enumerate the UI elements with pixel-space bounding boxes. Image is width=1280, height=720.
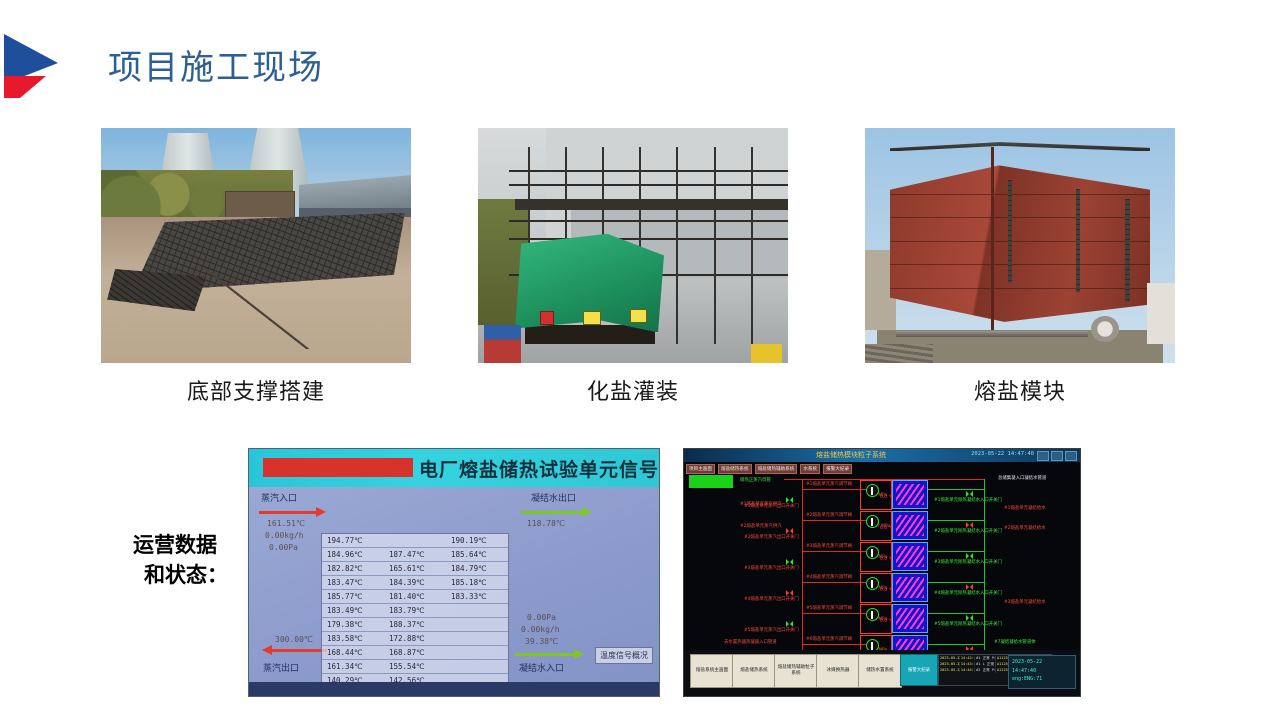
steam-outlet-temp: 300.00℃	[275, 635, 313, 644]
ladder-icon	[1076, 189, 1081, 292]
condensate-inlet-arrow	[515, 653, 575, 656]
menu-item-2[interactable]: 熔盐储热辅助系统	[755, 464, 798, 474]
temperature-cell: 155.54℃	[384, 662, 446, 671]
alarm-cell: 2023-05-22	[939, 656, 960, 660]
scaffold-post	[714, 147, 716, 344]
alarm-cell: 2023-05-22	[939, 662, 960, 666]
excavation-gap	[525, 325, 655, 344]
alarm-cell: 2023-05-22	[939, 668, 960, 672]
temperature-cell: 165.61℃	[384, 564, 446, 573]
condensate-valve-icon-1[interactable]	[966, 522, 973, 528]
outlet-valve-label-4: #5熔盐单元蒸汽出口开关门	[744, 627, 799, 633]
steam-header-riser	[802, 479, 803, 665]
photo-caption-2: 化盐灌装	[478, 374, 788, 406]
temperature-cell: 161.34℃	[322, 662, 384, 671]
heat-exchanger-module-0[interactable]	[892, 480, 928, 509]
steam-branch-line-1	[802, 520, 866, 521]
module-red-frame-1	[860, 511, 892, 541]
alarm-cell: 14:42:18	[960, 656, 975, 660]
steam-branch-line-4	[802, 613, 866, 614]
steam-branch-line-0	[802, 489, 866, 490]
redacted-plant-name	[263, 458, 413, 477]
steam-inlet-arrow	[259, 511, 317, 514]
table-row: 184.96℃187.47℃185.64℃	[322, 548, 508, 562]
temperature-cell: 168.44℃	[322, 648, 384, 657]
panel-seam	[890, 264, 1150, 265]
bottom-label-1: #7凝结凝给水管道体	[994, 639, 1036, 645]
alarm-cell: 14:44:51	[960, 668, 975, 672]
scaffold-rail	[509, 170, 788, 172]
water-valve-label-1: #2熔盐单元除热凝结水入口开关门	[934, 528, 1002, 534]
close-icon[interactable]	[1065, 451, 1077, 461]
ops-label-line2: 和状态：	[100, 560, 250, 590]
condensate-valve-icon-4[interactable]	[966, 615, 973, 621]
table-row: 161.34℃155.54℃	[322, 660, 508, 674]
condensate-outlet-arrow	[521, 511, 583, 514]
condensate-inlet-flow: 0.00kg/h	[521, 625, 560, 634]
condensate-header-riser	[984, 479, 985, 665]
heat-exchanger-module-2[interactable]	[892, 542, 928, 571]
temperature-cell: 183.49℃	[322, 606, 384, 615]
bottom-button-3[interactable]: 冰媒换热器	[816, 654, 860, 688]
yellow-barrier	[751, 344, 782, 363]
table-row: 183.49℃183.79℃	[322, 604, 508, 618]
temperature-cell: 183.47℃	[322, 578, 384, 587]
panel-seam	[890, 288, 1150, 289]
temperature-cell: 168.87℃	[384, 648, 446, 657]
panel-seam	[890, 217, 1150, 218]
warning-sign-icon	[583, 311, 601, 325]
steam-outlet-label: 蒸汽出口	[263, 661, 299, 674]
ladder-icon	[1125, 199, 1130, 302]
right-label-2: #2熔盐单元凝结给水	[1004, 525, 1046, 531]
steam-branch-line-2	[802, 551, 866, 552]
water-valve-label-3: #4熔盐单元除热凝结水入口开关门	[934, 590, 1002, 596]
temperature-cell: 194.77℃	[322, 536, 384, 545]
steam-branch-line-3	[802, 582, 866, 583]
table-row: 168.44℃168.87℃	[322, 646, 508, 660]
brand-logo	[0, 28, 62, 108]
photo-gallery	[0, 128, 1280, 368]
menu-item-4[interactable]: 报警大纪录	[823, 464, 852, 474]
alarm-cell: #1 L 正常 Pv 0	[975, 662, 996, 667]
heat-exchanger-module-4[interactable]	[892, 604, 928, 633]
outlet-valve-label-3: #4熔盐单元蒸汽出口开关门	[744, 596, 799, 602]
steam-inlet-flow: 0.00kg/h	[265, 531, 304, 540]
temperature-cell: 172.88℃	[384, 634, 446, 643]
bottom-button-4[interactable]: 储热水置系统	[858, 654, 902, 688]
salt-melting-filling-photo	[478, 128, 788, 363]
alarm-cell: #2 正常 Pv 0	[975, 668, 996, 673]
scaffold-rail	[509, 184, 788, 186]
table-row: 185.77℃181.40℃183.33℃	[322, 590, 508, 604]
condensate-valve-icon-2[interactable]	[966, 553, 973, 559]
photo-cell-3	[865, 128, 1175, 363]
right-label-1: #1熔盐单元凝结给水	[1004, 505, 1046, 511]
molten-salt-module-photo	[865, 128, 1175, 363]
condensate-inlet-label: 凝结水入口	[519, 661, 564, 674]
left-label-0: 储热正蒸汽母管	[740, 477, 771, 483]
valve-label-0: #1熔盐单元蒸汽调节阀	[806, 481, 852, 487]
operations-data-label: 运营数据 和状态：	[100, 530, 250, 591]
valve-label-4: #5熔盐单元蒸汽调节阀	[806, 605, 852, 611]
construction-foundation-rebar-photo	[101, 128, 411, 363]
clock-time: 14:47:40	[1012, 667, 1072, 676]
temperature-cell: 183.33℃	[446, 592, 508, 601]
temperature-table: 194.77℃190.19℃184.96℃187.47℃185.64℃182.8…	[321, 533, 509, 697]
scaffold-rail	[509, 220, 788, 222]
alarm-record-tab[interactable]: 报警大纪录	[900, 654, 938, 686]
table-row: 183.47℃184.39℃185.18℃	[322, 576, 508, 590]
bottom-button-1[interactable]: 熔盐储热系统	[732, 654, 776, 688]
temperature-overview-button[interactable]: 温度信号概况	[595, 647, 653, 664]
scada-title-bar: 熔盐储热模块粒子系统 2023-05-22 14:47:40	[684, 449, 1080, 462]
hmi-panel-title: 电厂熔盐储热试验单元信号	[419, 455, 659, 482]
bottom-label-0: 去水置热器热凝器入口管道	[724, 639, 777, 645]
ops-label-line1: 运营数据	[100, 530, 250, 560]
minimize-icon[interactable]	[1037, 451, 1049, 461]
table-row: 182.82℃165.61℃184.79℃	[322, 562, 508, 576]
condensate-branch-line-5	[928, 644, 984, 645]
left-label-2: #2熔盐单元蒸汽供汽	[740, 523, 782, 529]
worker-figure	[484, 325, 521, 363]
steam-inlet-temp: 161.51℃	[267, 519, 305, 528]
horizontal-pipe	[896, 331, 1088, 337]
temperature-cell: 187.47℃	[384, 550, 446, 559]
valve-label-3: #4熔盐单元蒸汽调节阀	[806, 574, 852, 580]
white-covered-material	[1147, 283, 1175, 344]
module-red-frame-4	[860, 604, 892, 634]
condensate-outlet-label: 凝结水出口	[531, 491, 576, 504]
hmi-footer-bar	[249, 682, 659, 696]
temperature-cell: 184.96℃	[322, 550, 384, 559]
alarm-cell: 14:43:02	[960, 662, 975, 666]
outlet-valve-label-1: #2熔盐单元蒸汽出口开关门	[744, 534, 799, 540]
menu-item-0[interactable]: 项目主画面	[686, 464, 715, 474]
menu-item-3[interactable]: 水系统	[800, 464, 820, 474]
panel-seam	[890, 194, 1150, 195]
steam-branch-line-5	[802, 644, 866, 645]
flag-arrow-logo-icon	[0, 28, 62, 108]
tank-corner-edge	[991, 147, 994, 359]
alarm-cell: #1 正常 Pv 0	[975, 656, 996, 661]
table-row: 183.58℃172.88℃	[322, 632, 508, 646]
heat-exchanger-module-3[interactable]	[892, 573, 928, 602]
warning-sign-icon	[630, 309, 648, 323]
bottom-button-2[interactable]: 熔盐储热辅助粒子系统	[774, 654, 818, 688]
temperature-cell: 183.58℃	[322, 634, 384, 643]
temperature-cell: 184.79℃	[446, 564, 508, 573]
hmi-signal-panel[interactable]: 电厂熔盐储热试验单元信号 蒸汽入口 161.51℃ 0.00kg/h 0.00P…	[248, 448, 660, 697]
right-label-3: #3熔盐单元凝结给水	[1004, 599, 1046, 605]
condensate-branch-line-2	[928, 551, 984, 552]
photo-caption-3: 熔盐模块	[865, 374, 1175, 406]
condensate-branch-line-0	[928, 489, 984, 490]
photo-caption-1: 底部支撑搭建	[101, 374, 411, 406]
water-valve-label-2: #3熔盐单元除热凝结水入口开关门	[934, 559, 1002, 565]
scada-menu-bar[interactable]: 项目主画面熔盐储热系统熔盐储热辅助系统水系统报警大纪录	[686, 464, 852, 474]
scaffold-rail	[509, 238, 788, 240]
temperature-cell: 183.79℃	[384, 606, 446, 615]
temperature-cell: 181.40℃	[384, 592, 446, 601]
steam-inlet-label: 蒸汽入口	[261, 491, 297, 504]
condensate-inlet-temp: 39.38℃	[525, 637, 558, 646]
heat-exchanger-module-1[interactable]	[892, 511, 928, 540]
water-valve-label-0: #1熔盐单元除热凝结水入口开关门	[934, 497, 1002, 503]
condensate-inlet-pressure: 0.00Pa	[527, 613, 556, 622]
condensate-valve-icon-3[interactable]	[966, 584, 973, 590]
condensate-outlet-temp: 118.78℃	[527, 519, 565, 528]
outlet-valve-label-2: #3熔盐单元蒸汽出口开关门	[744, 565, 799, 571]
clock-date: 2023-05-22	[1012, 658, 1072, 667]
ground-wire	[206, 269, 311, 349]
hmi-header-band: 电厂熔盐储热试验单元信号	[249, 449, 659, 487]
water-valve-label-4: #5熔盐单元除热凝结水入口开关门	[934, 621, 1002, 627]
scaffold-post	[676, 147, 678, 344]
scaffold-plank	[515, 199, 788, 211]
module-red-frame-3	[860, 573, 892, 603]
outlet-valve-label-0: #1熔盐单元蒸汽出口开关门	[744, 503, 799, 509]
valve-assembly	[1091, 316, 1119, 342]
table-row: 194.77℃190.19℃	[322, 534, 508, 548]
valve-label-2: #3熔盐单元蒸汽调节阀	[806, 543, 852, 549]
valve-label-5: #6熔盐单元蒸汽调节阀	[806, 636, 852, 642]
temperature-cell: 185.18℃	[446, 578, 508, 587]
photo-cell-1	[101, 128, 411, 363]
right-label-0: 总储集凝入口凝结水管道	[998, 475, 1046, 481]
menu-item-1[interactable]: 熔盐储热系统	[718, 464, 752, 474]
temperature-cell: 188.37℃	[384, 620, 446, 629]
temperature-cell: 190.19℃	[446, 536, 508, 545]
ladder-icon	[1008, 180, 1013, 283]
temperature-cell: 179.38℃	[322, 620, 384, 629]
scada-bottom-bar: 熔盐系统主画面熔盐储热系统熔盐储热辅助粒子系统冰媒换热器储热水置系统 报警大纪录…	[684, 650, 1080, 696]
temperature-cell: 185.64℃	[446, 550, 508, 559]
hmi-diagram-body: 蒸汽入口 161.51℃ 0.00kg/h 0.00Pa 凝结水出口 118.7…	[249, 487, 659, 682]
scada-panel[interactable]: 熔盐储热模块粒子系统 2023-05-22 14:47:40 项目主画面熔盐储热…	[683, 448, 1081, 697]
scaffold-post	[751, 147, 753, 344]
photo-cell-2	[478, 128, 788, 363]
scada-datetime: 2023-05-22 14:47:40	[971, 451, 1034, 457]
scada-window-title: 熔盐储热模块粒子系统	[816, 450, 886, 460]
module-red-frame-2	[860, 542, 892, 572]
temperature-cell: 182.82℃	[322, 564, 384, 573]
steel-beam-stack	[865, 344, 933, 363]
status-indicator-green	[689, 475, 733, 488]
table-row: 179.38℃188.37℃	[322, 618, 508, 632]
clock-tag: eng:ENG:71	[1012, 675, 1072, 684]
temperature-cell: 185.77℃	[322, 592, 384, 601]
warning-sign-icon	[540, 311, 554, 325]
maximize-icon[interactable]	[1051, 451, 1063, 461]
page-title: 项目施工现场	[108, 40, 324, 89]
steam-outlet-arrow	[271, 649, 327, 652]
window-controls[interactable]	[1037, 451, 1077, 461]
bottom-button-0[interactable]: 熔盐系统主画面	[690, 654, 734, 688]
condensate-branch-line-4	[928, 613, 984, 614]
temperature-cell: 184.39℃	[384, 578, 446, 587]
steam-inlet-pressure: 0.00Pa	[269, 543, 298, 552]
panel-seam	[890, 241, 1150, 242]
condensate-branch-line-1	[928, 520, 984, 521]
module-red-frame-0	[860, 480, 892, 510]
condensate-branch-line-3	[928, 582, 984, 583]
clock-widget: 2023-05-22 14:47:40 eng:ENG:71	[1008, 655, 1076, 689]
condensate-valve-icon-0[interactable]	[966, 491, 973, 497]
valve-label-1: #2熔盐单元蒸汽调节阀	[806, 512, 852, 518]
